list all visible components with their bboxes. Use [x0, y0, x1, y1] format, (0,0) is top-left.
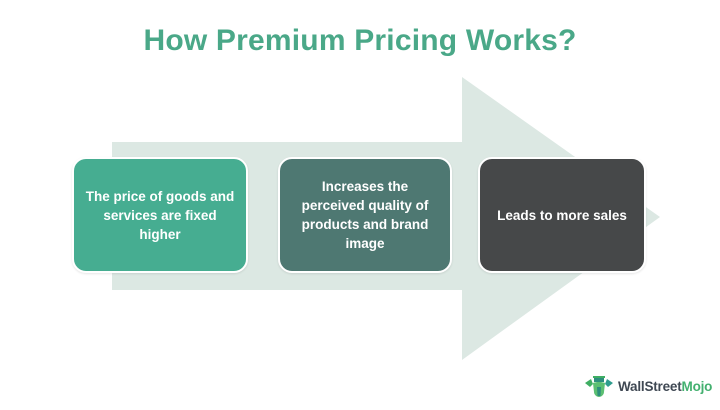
step-box-2[interactable]: Increases the perceived quality of produ… — [278, 157, 452, 273]
step-box-3-label: Leads to more sales — [490, 206, 634, 225]
infographic-canvas: How Premium Pricing Works? The price of … — [0, 0, 720, 410]
step-box-1-label: The price of goods and services are fixe… — [84, 187, 236, 244]
bull-mark-icon — [584, 372, 614, 400]
logo-wordmark: WallStreetMojo — [618, 379, 712, 394]
step-box-3[interactable]: Leads to more sales — [478, 157, 646, 273]
step-box-2-label: Increases the perceived quality of produ… — [290, 177, 440, 253]
logo-word-primary: WallStreet — [618, 379, 682, 394]
wallstreetmojo-logo[interactable]: WallStreetMojo — [584, 371, 710, 401]
step-box-1[interactable]: The price of goods and services are fixe… — [72, 157, 248, 273]
logo-word-accent: Mojo — [682, 379, 713, 394]
